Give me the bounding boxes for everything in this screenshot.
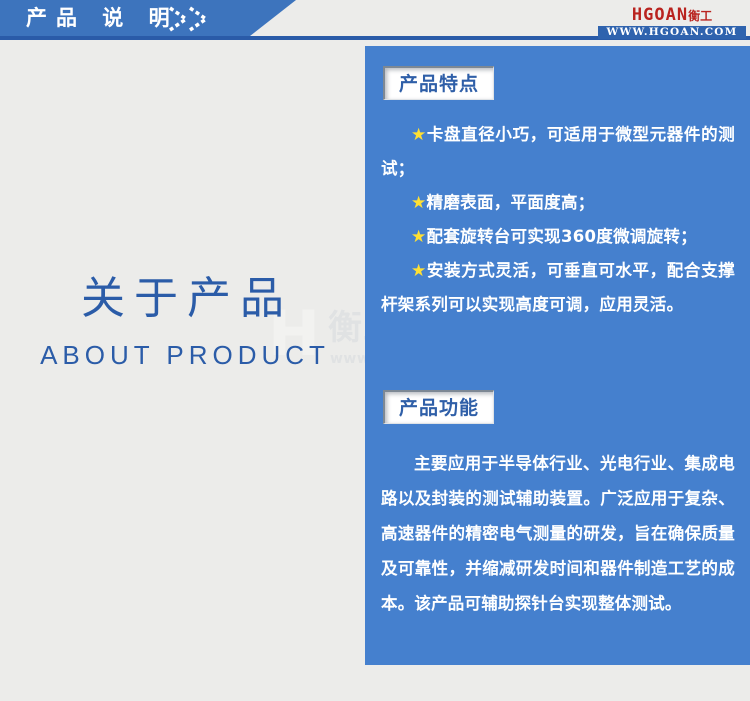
about-heading-cn: 关于产品 — [0, 272, 365, 326]
list-item: ★配套旋转台可实现360度微调旋转； — [381, 220, 735, 254]
about-heading-en: ABOUT PRODUCT — [0, 340, 365, 370]
double-chevron-right-icon — [168, 6, 248, 32]
section-title-features-label: 产品特点 — [399, 73, 479, 95]
feature-list: ★卡盘直径小巧，可适用于微型元器件的测试； ★精磨表面，平面度高； ★配套旋转台… — [381, 118, 735, 322]
star-icon: ★ — [411, 227, 427, 247]
header-title: 产品 说 明 — [26, 6, 179, 30]
about-block: 关于产品 ABOUT PRODUCT — [0, 272, 365, 370]
list-item: ★精磨表面，平面度高； — [381, 186, 735, 220]
logo-chinese: 衡工 — [688, 9, 712, 23]
functions-paragraph: 主要应用于半导体行业、光电行业、集成电路以及封装的测试辅助装置。广泛应用于复杂、… — [381, 446, 735, 621]
logo-website-url: WWW.HGOAN.COM — [598, 26, 746, 39]
logo-latin: HGOAN — [632, 5, 688, 25]
logo-wordmark: HGOAN衡工 — [598, 7, 746, 25]
list-item: ★卡盘直径小巧，可适用于微型元器件的测试； — [381, 118, 735, 186]
star-icon: ★ — [411, 261, 427, 281]
company-logo: HGOAN衡工 WWW.HGOAN.COM — [598, 7, 746, 37]
star-icon: ★ — [411, 193, 427, 213]
list-item-text: 卡盘直径小巧，可适用于微型元器件的测试； — [381, 125, 735, 178]
list-item-text: 配套旋转台可实现360度微调旋转； — [427, 227, 698, 246]
section-title-features: 产品特点 — [383, 66, 494, 100]
star-icon: ★ — [411, 125, 427, 145]
section-title-functions: 产品功能 — [383, 390, 494, 424]
product-description-page: 产品 说 明 HGOAN衡工 WWW.HGOAN.COM H 衡工仪器 www.… — [0, 0, 750, 701]
list-item-text: 安装方式灵活，可垂直可水平，配合支撑杆架系列可以实现高度可调，应用灵活。 — [381, 261, 735, 314]
list-item: ★安装方式灵活，可垂直可水平，配合支撑杆架系列可以实现高度可调，应用灵活。 — [381, 254, 735, 322]
section-title-functions-label: 产品功能 — [399, 397, 479, 419]
page-header: 产品 说 明 HGOAN衡工 WWW.HGOAN.COM — [0, 0, 750, 40]
content-panel: 产品特点 ★卡盘直径小巧，可适用于微型元器件的测试； ★精磨表面，平面度高； ★… — [365, 46, 750, 665]
list-item-text: 精磨表面，平面度高； — [427, 193, 595, 212]
